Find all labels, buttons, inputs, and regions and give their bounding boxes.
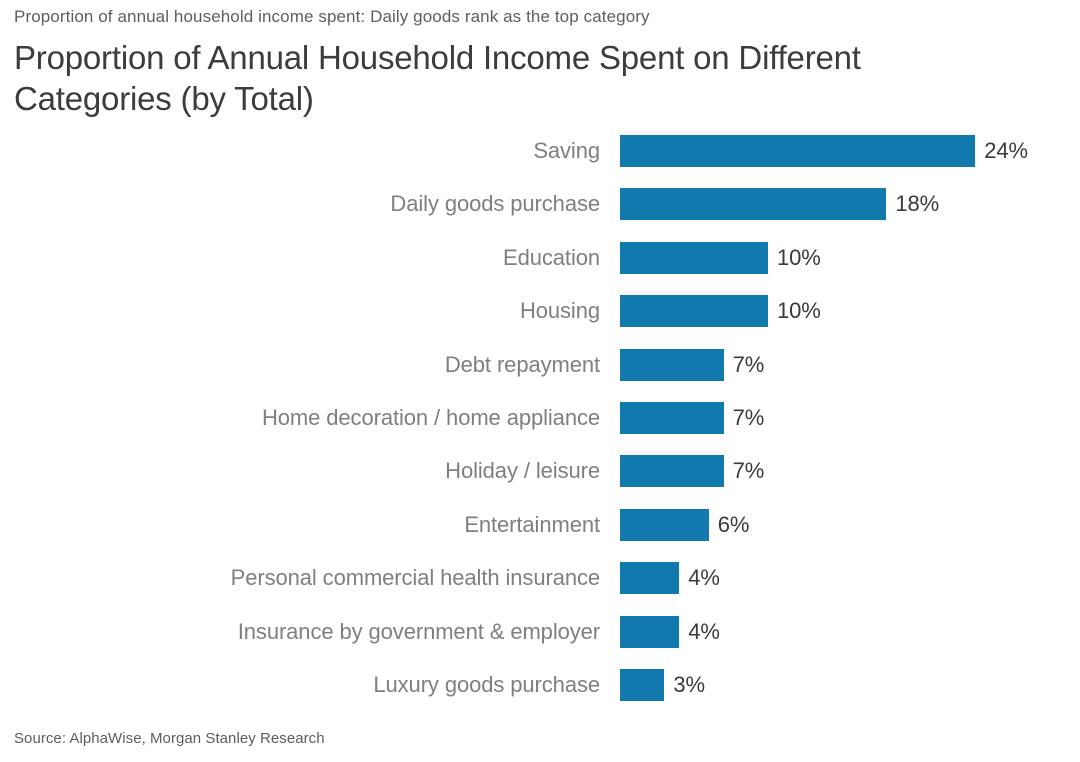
bar[interactable]	[620, 455, 724, 487]
category-label: Education	[0, 245, 620, 271]
bar-row: Education10%	[0, 242, 1080, 274]
category-label: Personal commercial health insurance	[0, 565, 620, 591]
bar-value-label: 10%	[777, 245, 821, 271]
bar-row: Debt repayment7%	[0, 349, 1080, 381]
bar-value-label: 10%	[777, 298, 821, 324]
bar-row: Saving24%	[0, 135, 1080, 167]
bar-row: Entertainment6%	[0, 509, 1080, 541]
bar-track: 7%	[620, 455, 1080, 487]
bar-row: Daily goods purchase18%	[0, 188, 1080, 220]
category-label: Housing	[0, 298, 620, 324]
chart-container: Proportion of annual household income sp…	[0, 0, 1080, 762]
bar[interactable]	[620, 295, 768, 327]
bar-row: Insurance by government & employer4%	[0, 616, 1080, 648]
category-label: Home decoration / home appliance	[0, 405, 620, 431]
bar-value-label: 7%	[733, 405, 765, 431]
category-label: Daily goods purchase	[0, 191, 620, 217]
bar-value-label: 7%	[733, 458, 765, 484]
category-label: Luxury goods purchase	[0, 672, 620, 698]
bar[interactable]	[620, 616, 679, 648]
bar[interactable]	[620, 402, 724, 434]
bar[interactable]	[620, 242, 768, 274]
bar-value-label: 4%	[688, 565, 720, 591]
bar-track: 7%	[620, 402, 1080, 434]
bar-value-label: 7%	[733, 352, 765, 378]
bar-track: 10%	[620, 242, 1080, 274]
bar-value-label: 4%	[688, 619, 720, 645]
bar[interactable]	[620, 135, 975, 167]
bar-value-label: 18%	[895, 191, 939, 217]
bar[interactable]	[620, 188, 886, 220]
bar-track: 24%	[620, 135, 1080, 167]
bar-track: 18%	[620, 188, 1080, 220]
bar[interactable]	[620, 669, 664, 701]
bar-track: 6%	[620, 509, 1080, 541]
bar-value-label: 24%	[984, 138, 1028, 164]
chart-title: Proportion of Annual Household Income Sp…	[14, 37, 1004, 119]
bar[interactable]	[620, 509, 709, 541]
chart-kicker: Proportion of annual household income sp…	[14, 6, 1060, 28]
bar-track: 4%	[620, 616, 1080, 648]
bar-track: 4%	[620, 562, 1080, 594]
bar-track: 7%	[620, 349, 1080, 381]
bar-value-label: 3%	[673, 672, 705, 698]
bar-row: Housing10%	[0, 295, 1080, 327]
category-label: Saving	[0, 138, 620, 164]
bar-row: Home decoration / home appliance7%	[0, 402, 1080, 434]
plot-area: Saving24%Daily goods purchase18%Educatio…	[0, 133, 1080, 720]
category-label: Debt repayment	[0, 352, 620, 378]
bar-row: Holiday / leisure7%	[0, 455, 1080, 487]
bar-value-label: 6%	[718, 512, 750, 538]
bar-row: Personal commercial health insurance4%	[0, 562, 1080, 594]
category-label: Insurance by government & employer	[0, 619, 620, 645]
bar-row: Luxury goods purchase3%	[0, 669, 1080, 701]
category-label: Entertainment	[0, 512, 620, 538]
source-note: Source: AlphaWise, Morgan Stanley Resear…	[14, 729, 325, 749]
chart-header: Proportion of annual household income sp…	[14, 6, 1060, 119]
category-label: Holiday / leisure	[0, 458, 620, 484]
bar-track: 10%	[620, 295, 1080, 327]
bar[interactable]	[620, 349, 724, 381]
bar-track: 3%	[620, 669, 1080, 701]
bar[interactable]	[620, 562, 679, 594]
